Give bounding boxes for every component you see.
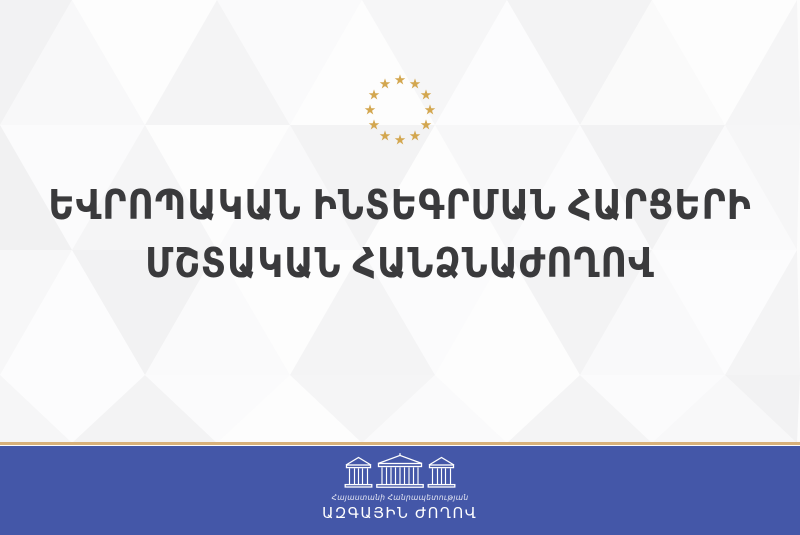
national-assembly-logo: Հայաստանի Հանրապետության ԱԶԳԱՅԻՆ ԺՈՂՈՎ	[0, 452, 800, 523]
parliament-building-icon	[341, 452, 459, 490]
logo-title: ԱԶԳԱՅԻՆ ԺՈՂՈՎ	[322, 504, 477, 523]
poster-canvas: ԵՎՐՈՊԱԿԱՆ ԻՆՏԵԳՐՄԱՆ ՀԱՐՑԵՐԻ ՄՇՏԱԿԱՆ ՀԱՆՁ…	[0, 0, 800, 535]
logo-subtitle: Հայաստանի Հանրապետության	[332, 493, 469, 503]
european-union-stars-emblem	[355, 65, 445, 155]
gold-divider-rule	[0, 442, 800, 445]
page-title: ԵՎՐՈՊԱԿԱՆ ԻՆՏԵԳՐՄԱՆ ՀԱՐՑԵՐԻ ՄՇՏԱԿԱՆ ՀԱՆՁ…	[0, 176, 800, 292]
title-line-1: ԵՎՐՈՊԱԿԱՆ ԻՆՏԵԳՐՄԱՆ ՀԱՐՑԵՐԻ	[48, 176, 752, 234]
title-line-2: ՄՇՏԱԿԱՆ ՀԱՆՁՆԱԺՈՂՈՎ	[48, 234, 752, 292]
